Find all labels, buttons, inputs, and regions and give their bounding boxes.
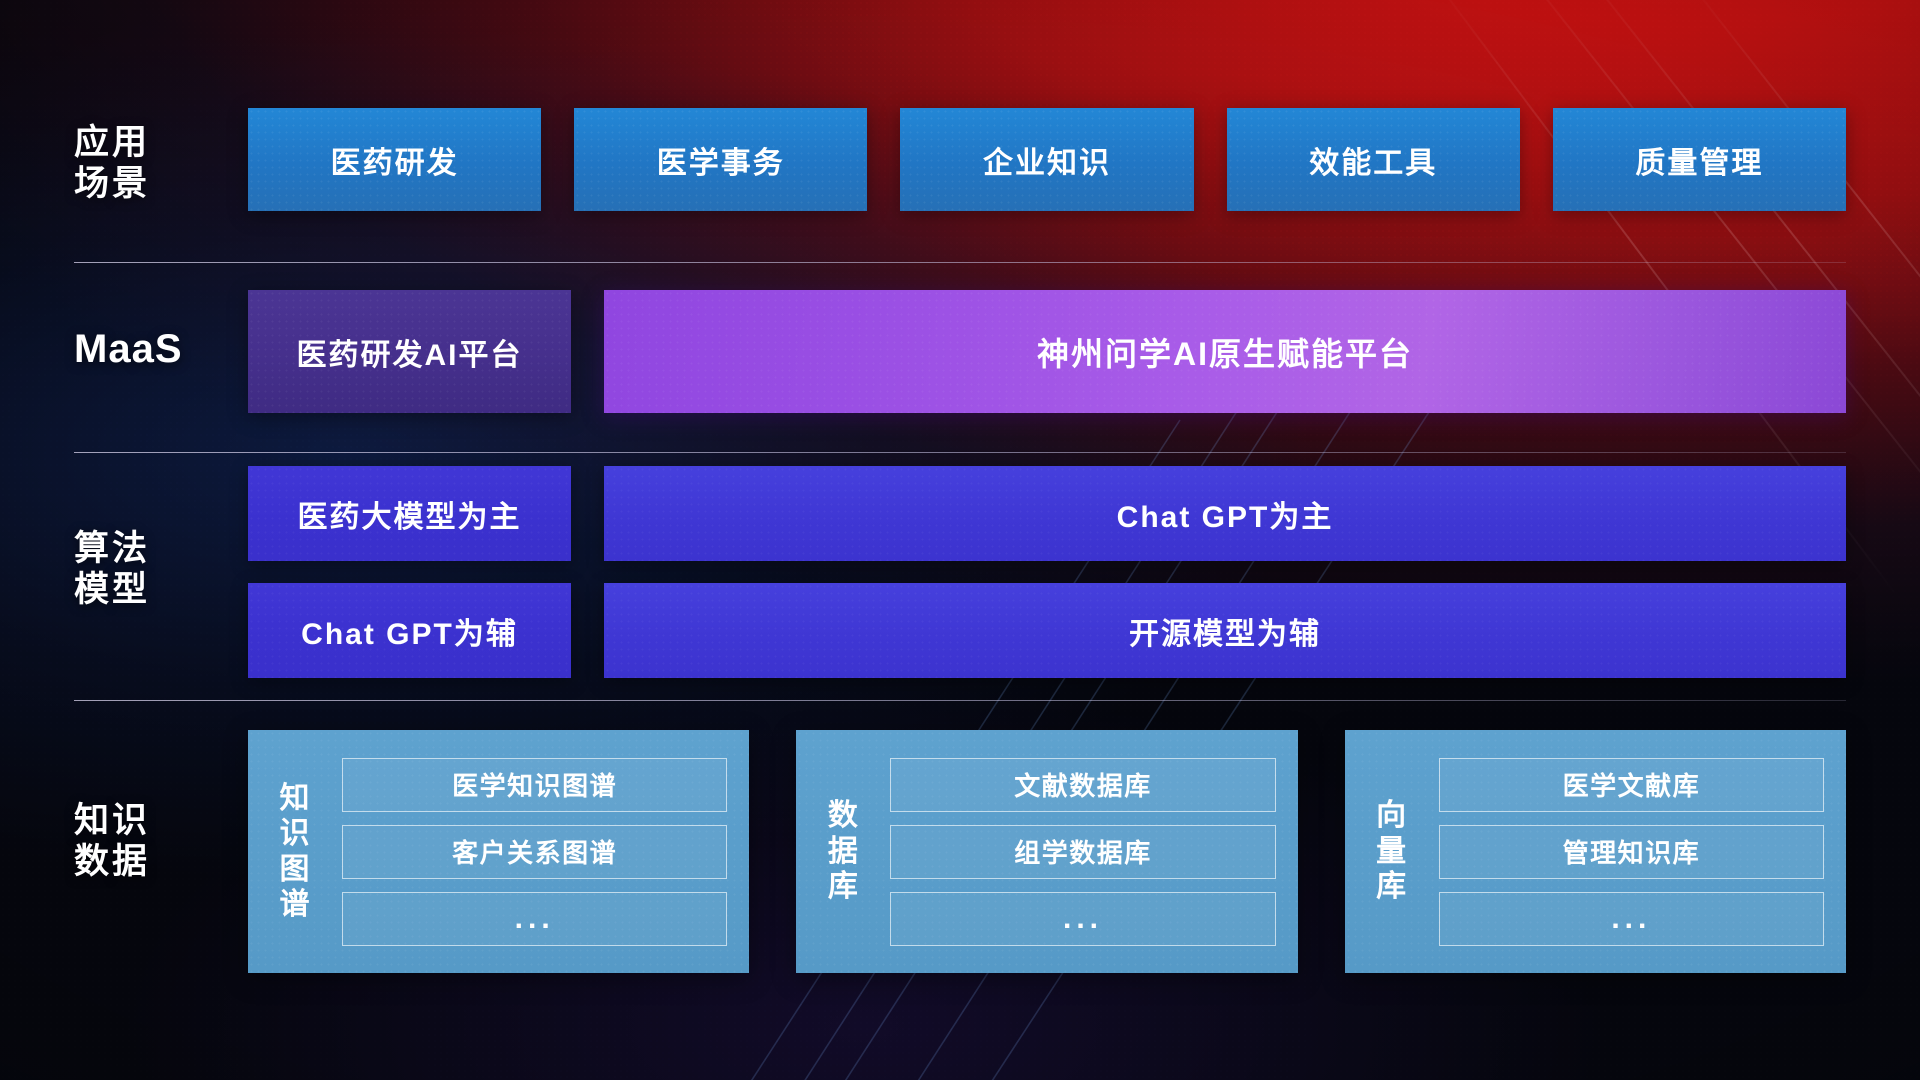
knowledge-data-group-list: 知识图谱 医学知识图谱 客户关系图谱 ... 数据库 文献数据库 组学数据库 .… [248,730,1846,973]
knowledge-item-0-0[interactable]: 医学知识图谱 [342,758,727,812]
knowledge-group-items-1: 文献数据库 组学数据库 ... [890,758,1275,946]
knowledge-item-1-2[interactable]: ... [890,892,1275,946]
algorithm-left-label-1: Chat GPT为辅 [301,609,518,653]
algorithm-right-label-0: Chat GPT为主 [1117,492,1334,536]
row-label-line2: 模型 [74,569,254,610]
app-scenario-label-0: 医药研发 [331,138,459,182]
row-label-line1: 知识 [74,800,254,841]
row-label-application-scenario: 应用 场景 [74,122,254,205]
maas-main-platform-label: 神州问学AI原生赋能平台 [1037,329,1413,375]
knowledge-group-items-2: 医学文献库 管理知识库 ... [1439,758,1824,946]
application-scenario-box-list: 医药研发 医学事务 企业知识 效能工具 质量管理 [248,108,1846,211]
app-scenario-box-3[interactable]: 效能工具 [1227,108,1520,211]
row-label-maas: MaaS [74,326,254,373]
app-scenario-label-2: 企业知识 [983,138,1111,182]
maas-small-platform-box[interactable]: 医药研发AI平台 [248,290,571,413]
knowledge-item-1-1[interactable]: 组学数据库 [890,825,1275,879]
app-scenario-box-0[interactable]: 医药研发 [248,108,541,211]
app-scenario-label-3: 效能工具 [1309,138,1437,182]
diagram-canvas: 应用 场景 医药研发 医学事务 企业知识 效能工具 质量管理 MaaS 医药研发… [0,0,1920,1080]
knowledge-item-0-1[interactable]: 客户关系图谱 [342,825,727,879]
row-algorithm-model: 算法 模型 医药大模型为主 Chat GPT为主 Chat GPT为辅 开源模型… [0,466,1920,696]
knowledge-item-2-1[interactable]: 管理知识库 [1439,825,1824,879]
knowledge-group-title-2: 向量库 [1363,798,1421,904]
knowledge-item-2-2[interactable]: ... [1439,892,1824,946]
algorithm-right-box-0[interactable]: Chat GPT为主 [604,466,1846,561]
maas-box-list: 医药研发AI平台 神州问学AI原生赋能平台 [248,290,1846,413]
algorithm-model-row-1: Chat GPT为辅 开源模型为辅 [248,583,1846,678]
row-label-line2: 数据 [74,841,254,882]
knowledge-group-1[interactable]: 数据库 文献数据库 组学数据库 ... [796,730,1297,973]
knowledge-group-2[interactable]: 向量库 医学文献库 管理知识库 ... [1345,730,1846,973]
algorithm-left-label-0: 医药大模型为主 [298,492,522,536]
divider-application-maas [74,262,1846,263]
app-scenario-box-1[interactable]: 医学事务 [574,108,867,211]
knowledge-item-1-0[interactable]: 文献数据库 [890,758,1275,812]
row-maas: MaaS 医药研发AI平台 神州问学AI原生赋能平台 [0,290,1920,420]
divider-algorithm-knowledge [74,700,1846,701]
row-knowledge-data: 知识 数据 知识图谱 医学知识图谱 客户关系图谱 ... 数据库 文献数据库 [0,730,1920,980]
row-label-knowledge-data: 知识 数据 [74,800,254,883]
maas-small-platform-label: 医药研发AI平台 [297,330,523,374]
algorithm-right-box-1[interactable]: 开源模型为辅 [604,583,1846,678]
knowledge-item-0-2[interactable]: ... [342,892,727,946]
row-label-line1: 算法 [74,528,254,569]
divider-maas-algorithm [74,452,1846,453]
knowledge-group-title-0: 知识图谱 [266,781,324,923]
row-label-line2: 场景 [74,163,254,204]
algorithm-left-box-1[interactable]: Chat GPT为辅 [248,583,571,678]
maas-main-platform-box[interactable]: 神州问学AI原生赋能平台 [604,290,1846,413]
app-scenario-box-4[interactable]: 质量管理 [1553,108,1846,211]
knowledge-group-items-0: 医学知识图谱 客户关系图谱 ... [342,758,727,946]
app-scenario-label-1: 医学事务 [657,138,785,182]
algorithm-left-box-0[interactable]: 医药大模型为主 [248,466,571,561]
knowledge-item-2-0[interactable]: 医学文献库 [1439,758,1824,812]
app-scenario-label-4: 质量管理 [1635,138,1763,182]
algorithm-right-label-1: 开源模型为辅 [1129,609,1321,653]
row-label-algorithm-model: 算法 模型 [74,528,254,611]
app-scenario-box-2[interactable]: 企业知识 [900,108,1193,211]
row-application-scenario: 应用 场景 医药研发 医学事务 企业知识 效能工具 质量管理 [0,108,1920,228]
knowledge-group-title-1: 数据库 [814,798,872,904]
knowledge-group-0[interactable]: 知识图谱 医学知识图谱 客户关系图谱 ... [248,730,749,973]
row-label-line1: 应用 [74,122,254,163]
algorithm-model-row-0: 医药大模型为主 Chat GPT为主 [248,466,1846,561]
